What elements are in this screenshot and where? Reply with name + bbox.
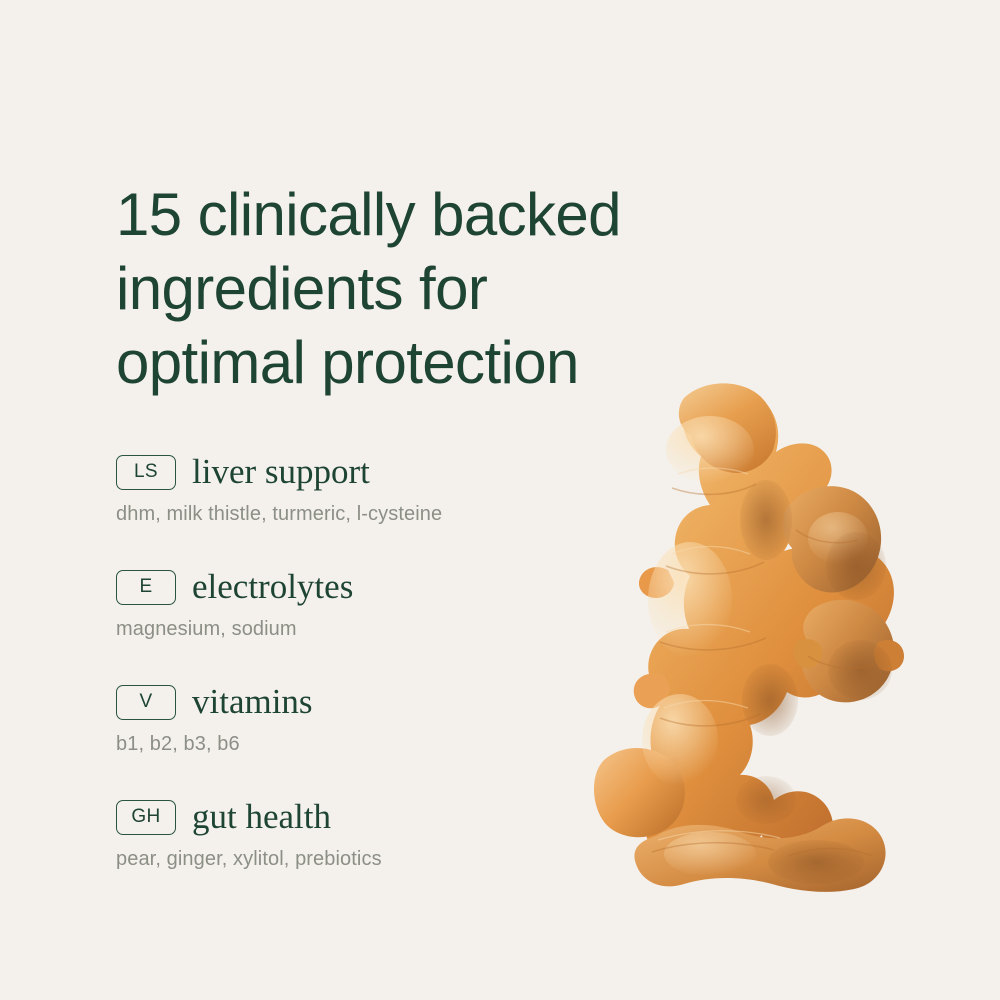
badge-vitamins: V (116, 685, 176, 720)
ingredient-subtitle: dhm, milk thistle, turmeric, l-cysteine (116, 501, 586, 527)
badge-electrolytes: E (116, 570, 176, 605)
ingredient-subtitle: b1, b2, b3, b6 (116, 731, 586, 757)
ingredient-header: E electrolytes (116, 567, 586, 607)
list-item: GH gut health pear, ginger, xylitol, pre… (116, 797, 586, 872)
ingredient-title: electrolytes (192, 568, 353, 606)
list-item: E electrolytes magnesium, sodium (116, 567, 586, 642)
ingredient-title: liver support (192, 453, 370, 491)
ingredient-subtitle: magnesium, sodium (116, 616, 586, 642)
ingredient-title: gut health (192, 798, 331, 836)
product-ingredients-panel: 15 clinically backed ingredients for opt… (0, 0, 1000, 1000)
badge-liver-support: LS (116, 455, 176, 490)
ingredient-header: V vitamins (116, 682, 586, 722)
ingredient-title: vitamins (192, 683, 313, 721)
ingredient-header: GH gut health (116, 797, 586, 837)
ingredient-list: LS liver support dhm, milk thistle, turm… (116, 452, 586, 872)
badge-gut-health: GH (116, 800, 176, 835)
list-item: LS liver support dhm, milk thistle, turm… (116, 452, 586, 527)
page-title: 15 clinically backed ingredients for opt… (116, 178, 756, 400)
ginger-root-photo (560, 370, 920, 915)
list-item: V vitamins b1, b2, b3, b6 (116, 682, 586, 757)
ingredient-subtitle: pear, ginger, xylitol, prebiotics (116, 846, 586, 872)
ingredient-header: LS liver support (116, 452, 586, 492)
